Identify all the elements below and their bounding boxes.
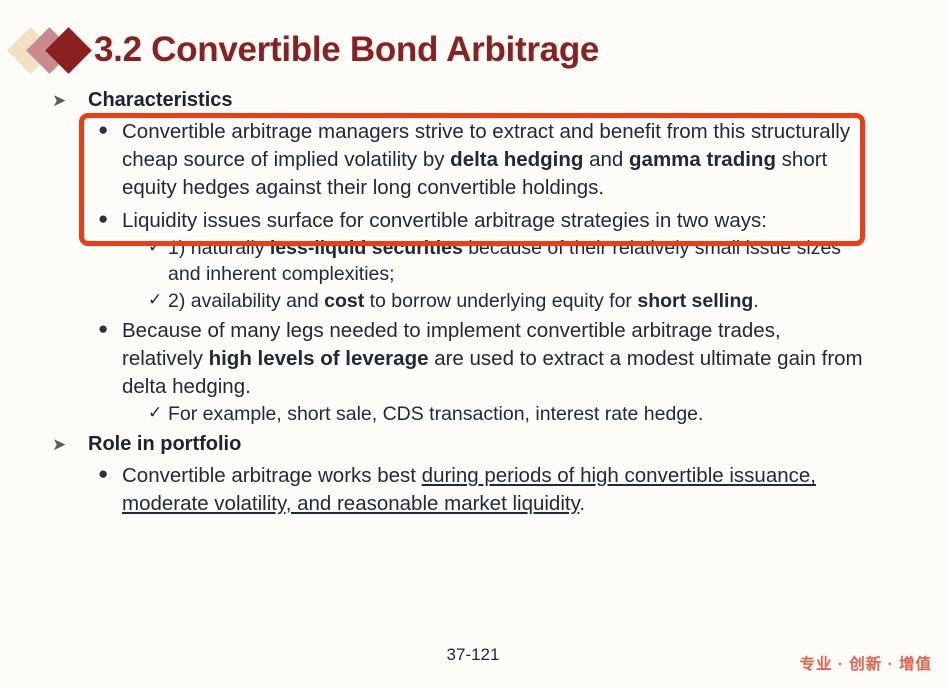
section-heading-label: Characteristics — [88, 88, 233, 113]
dot-bullet-icon: ● — [98, 462, 122, 487]
dot-bullet-icon: ● — [98, 317, 122, 342]
sub-bullet-text: 1) naturally less-liquid securities beca… — [168, 235, 868, 288]
bullet-text: Convertible arbitrage works best during … — [122, 462, 867, 518]
bullet-text: Because of many legs needed to implement… — [122, 317, 867, 401]
check-bullet-icon: ✓ — [148, 288, 168, 312]
dot-bullet-icon: ● — [98, 207, 122, 232]
list-item: ✓ For example, short sale, CDS transacti… — [0, 401, 946, 428]
sub-bullet-text: For example, short sale, CDS transaction… — [168, 401, 868, 428]
check-bullet-icon: ✓ — [148, 401, 168, 425]
arrow-bullet-icon: ➤ — [52, 92, 74, 109]
slide-title-row: 3.2 Convertible Bond Arbitrage — [0, 18, 599, 82]
section-heading-label: Role in portfolio — [88, 432, 241, 457]
section-heading-role-in-portfolio: ➤ Role in portfolio — [0, 432, 946, 457]
list-item: ✓ 2) availability and cost to borrow und… — [0, 288, 946, 315]
check-bullet-icon: ✓ — [148, 235, 168, 259]
diamond-stack-icon — [12, 24, 96, 76]
bullet-text: Liquidity issues surface for convertible… — [122, 207, 867, 235]
list-item: ● Because of many legs needed to impleme… — [0, 317, 946, 401]
list-item: ✓ 1) naturally less-liquid securities be… — [0, 235, 946, 288]
list-item: ● Liquidity issues surface for convertib… — [0, 207, 946, 235]
page-title: 3.2 Convertible Bond Arbitrage — [94, 30, 599, 70]
bullet-text: Convertible arbitrage managers strive to… — [122, 118, 867, 202]
slide-body: ➤ Characteristics ● Convertible arbitrag… — [0, 88, 946, 518]
dot-bullet-icon: ● — [98, 118, 122, 143]
brand-tagline: 专业 · 创新 · 增值 — [799, 652, 932, 674]
arrow-bullet-icon: ➤ — [52, 436, 74, 453]
sub-bullet-text: 2) availability and cost to borrow under… — [168, 288, 868, 315]
list-item: ● Convertible arbitrage managers strive … — [0, 118, 946, 202]
section-heading-characteristics: ➤ Characteristics — [0, 88, 946, 113]
list-item: ● Convertible arbitrage works best durin… — [0, 462, 946, 518]
